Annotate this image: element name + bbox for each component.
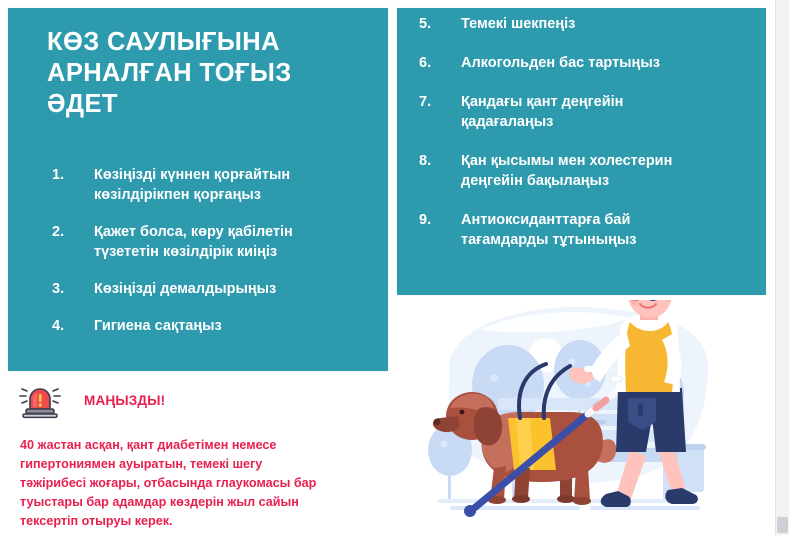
list-item: 4. Гигиена сақтаңыз <box>8 316 388 336</box>
important-warning-block: МАҢЫЗДЫ! 40 жастан асқан, қант диабетіме… <box>8 378 388 531</box>
poster-canvas: КӨЗ САУЛЫҒЫНА АРНАЛҒАН ТОҒЫЗ ӘДЕТ 1. Көз… <box>0 0 789 535</box>
list-item-text: Көзіңізді демалдырыңыз <box>94 279 388 299</box>
list-item-number: 4. <box>8 316 94 336</box>
list-item-text: Алкогольден бас тартыңыз <box>461 53 766 73</box>
list-item: 7. Қандағы қант деңгейін қадағалаңыз <box>397 92 766 132</box>
list-item-text: Гигиена сақтаңыз <box>94 316 388 336</box>
list-item: 1. Көзіңізді күннен қорғайтын көзілдірік… <box>8 165 388 205</box>
list-item-number: 3. <box>8 279 94 299</box>
siren-alarm-icon <box>18 380 62 420</box>
list-item-text: Қандағы қант деңгейін қадағалаңыз <box>461 92 766 132</box>
list-item: 6. Алкогольден бас тартыңыз <box>397 53 766 73</box>
list-item-number: 5. <box>397 14 461 34</box>
list-item: 8. Қан қысымы мен холестерин деңгейін ба… <box>397 151 766 191</box>
list-item-text: Көзіңізді күннен қорғайтын көзілдірікпен… <box>94 165 388 205</box>
habits-list-right: 5. Темекі шекпеңіз 6. Алкогольден бас та… <box>397 14 766 269</box>
list-item-number: 7. <box>397 92 461 112</box>
list-item: 2. Қажет болса, көру қабілетін түзететін… <box>8 222 388 262</box>
important-body-text: 40 жастан асқан, қант диабетімен немесе … <box>8 436 388 531</box>
poster-title: КӨЗ САУЛЫҒЫНА АРНАЛҒАН ТОҒЫЗ ӘДЕТ <box>47 27 367 120</box>
list-item-number: 9. <box>397 210 461 230</box>
habits-list-left: 1. Көзіңізді күннен қорғайтын көзілдірік… <box>8 165 388 353</box>
list-item-number: 6. <box>397 53 461 73</box>
right-edge-scrollbar[interactable] <box>775 0 789 535</box>
blind-man-with-guide-dog-illustration <box>420 300 775 528</box>
list-item-number: 8. <box>397 151 461 171</box>
important-header: МАҢЫЗДЫ! <box>8 378 388 422</box>
list-item-text: Қан қысымы мен холестерин деңгейін бақыл… <box>461 151 766 191</box>
list-item-text: Қажет болса, көру қабілетін түзететін кө… <box>94 222 388 262</box>
important-label: МАҢЫЗДЫ! <box>84 393 165 408</box>
list-item: 9. Антиоксиданттарға бай тағамдарды тұты… <box>397 210 766 250</box>
list-item-number: 2. <box>8 222 94 242</box>
list-item-text: Темекі шекпеңіз <box>461 14 766 34</box>
list-item: 3. Көзіңізді демалдырыңыз <box>8 279 388 299</box>
list-item: 5. Темекі шекпеңіз <box>397 14 766 34</box>
list-item-number: 1. <box>8 165 94 185</box>
scrollbar-thumb[interactable] <box>777 517 788 533</box>
list-item-text: Антиоксиданттарға бай тағамдарды тұтының… <box>461 210 766 250</box>
